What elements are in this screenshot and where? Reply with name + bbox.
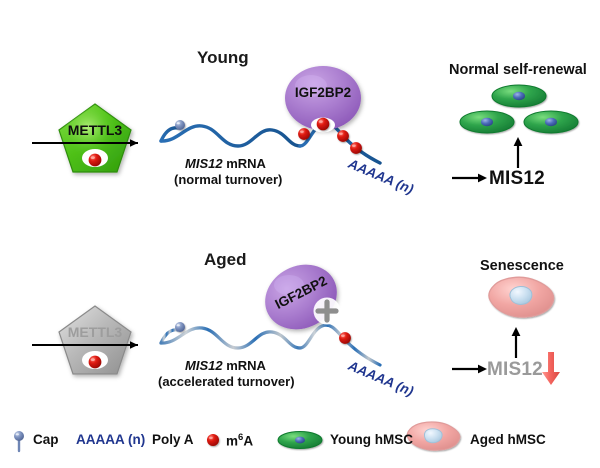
m6a-base: m: [226, 434, 238, 449]
m6a-tail: A: [243, 434, 253, 449]
mrna-gene-aged: MIS12: [185, 358, 223, 373]
mis12-label-aged: MIS12: [487, 359, 543, 381]
panel-title-young: Young: [197, 48, 249, 68]
cap-icon-legend: [14, 431, 24, 451]
legend-glyph-polya: AAAAA (n): [76, 432, 145, 447]
aged-hmsc-cell: [489, 277, 554, 317]
m6a-mark-young: [82, 149, 108, 167]
mettl3-label-aged: METTL3: [55, 324, 135, 340]
m6a-sites-aged: [339, 332, 351, 344]
m6a-mark-aged: [82, 351, 108, 369]
legend-label-young-hmsc: Young hMSC: [330, 432, 413, 447]
blocked-binding-badge-aged: [314, 298, 341, 325]
cap-icon-young: [175, 120, 185, 130]
mrna-turnover-young: (normal turnover): [174, 172, 282, 187]
output-arrow-aged: [452, 365, 487, 374]
legend-label-polya: Poly A: [152, 432, 194, 447]
senescence-arrow-aged: [512, 327, 521, 358]
mrna-gene-young: MIS12: [185, 156, 223, 171]
output-heading-young: Normal self-renewal: [449, 62, 587, 78]
mis12-label-young: MIS12: [489, 168, 545, 190]
m6a-dot-icon-legend: [207, 434, 219, 446]
young-hmsc-icon-legend: [278, 432, 322, 449]
mrna-name-aged: MIS12 mRNA: [185, 357, 266, 375]
selfrenewal-arrow-young: [514, 137, 523, 168]
mrna-suffix-young: mRNA: [223, 156, 266, 171]
output-arrow-young: [452, 174, 487, 183]
legend-label-cap: Cap: [33, 432, 59, 447]
legend-label-m6a: m6A: [226, 432, 253, 449]
mrna-turnover-aged: (accelerated turnover): [158, 374, 295, 389]
mrna-suffix-aged: mRNA: [223, 358, 266, 373]
mrna-name-young: MIS12 mRNA: [185, 155, 266, 173]
young-hmsc-cells: [460, 85, 578, 133]
igf2bp2-label-young: IGF2BP2: [283, 85, 363, 100]
legend-label-aged-hmsc: Aged hMSC: [470, 432, 546, 447]
mettl3-label-young: METTL3: [55, 122, 135, 138]
aged-hmsc-icon-legend: [407, 422, 459, 450]
panel-title-aged: Aged: [204, 250, 247, 270]
pathway-figure: Young METTL3 IGF2BP2 MIS12 mRNA (normal …: [0, 0, 600, 468]
output-heading-aged: Senescence: [480, 258, 564, 274]
cap-icon-aged: [175, 322, 185, 332]
mis12-down-arrow-icon: [542, 352, 560, 385]
